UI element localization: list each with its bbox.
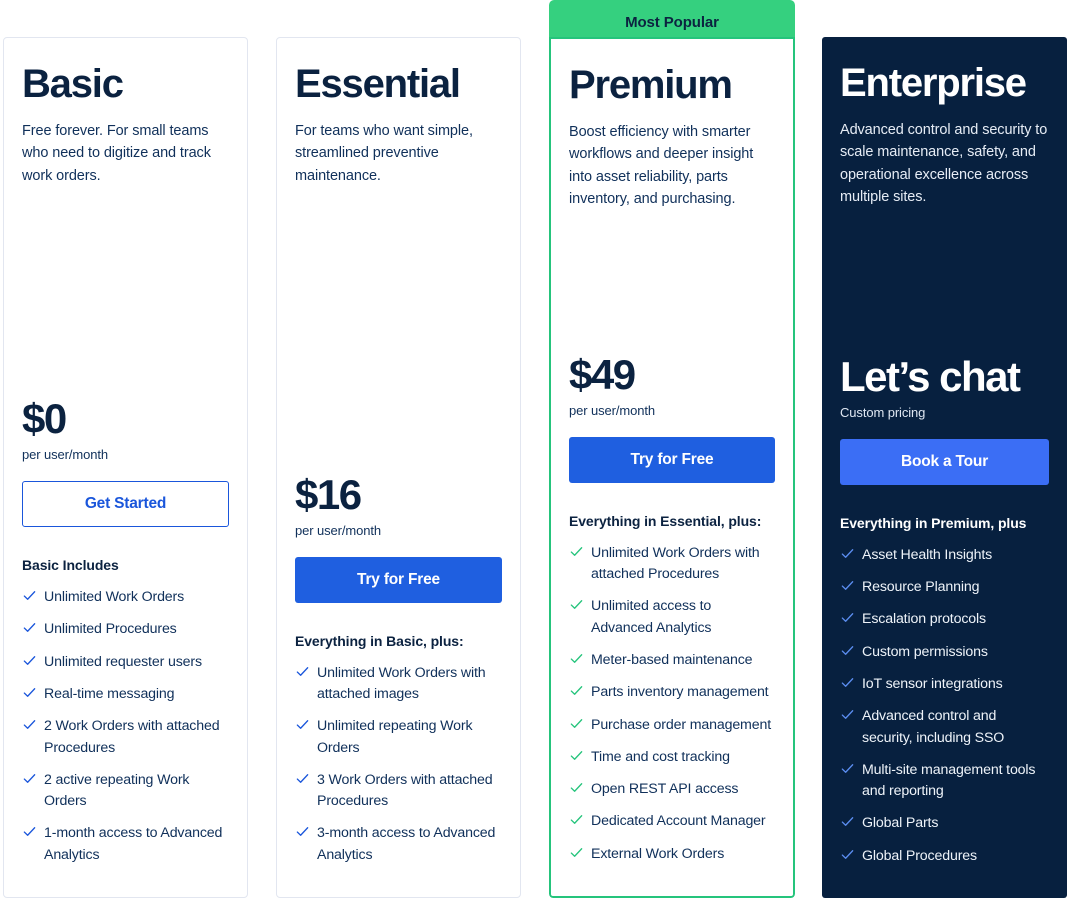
check-icon — [569, 779, 587, 795]
plan-name-enterprise: Enterprise — [840, 63, 1049, 103]
check-icon — [569, 596, 587, 612]
feature-item: Unlimited access to Advanced Analytics — [569, 596, 775, 639]
check-icon — [22, 587, 40, 603]
check-icon — [295, 663, 313, 679]
feature-item: 3-month access to Advanced Analytics — [295, 823, 502, 866]
feature-label: Global Procedures — [862, 846, 977, 867]
book-a-tour-button[interactable]: Book a Tour — [840, 439, 1049, 485]
feature-label: Unlimited Procedures — [44, 619, 177, 640]
check-icon — [840, 577, 858, 593]
check-icon — [840, 706, 858, 722]
plan-name-basic: Basic — [22, 64, 229, 104]
check-icon — [840, 846, 858, 862]
price-block-enterprise: Let’s chat Custom pricing Book a Tour — [840, 355, 1049, 485]
feature-label: 3 Work Orders with attached Procedures — [317, 770, 502, 813]
check-icon — [22, 652, 40, 668]
feature-item: Asset Health Insights — [840, 545, 1049, 566]
check-icon — [22, 770, 40, 786]
check-icon — [569, 747, 587, 763]
feature-item: Global Parts — [840, 813, 1049, 834]
features-title-essential: Everything in Basic, plus: — [295, 633, 502, 649]
feature-item: Dedicated Account Manager — [569, 811, 775, 832]
pricing-card-basic: Basic Free forever. For small teams who … — [3, 37, 248, 898]
plan-description-essential: For teams who want simple, streamlined p… — [295, 120, 502, 187]
feature-item: Unlimited requester users — [22, 652, 229, 673]
feature-label: 2 active repeating Work Orders — [44, 770, 229, 813]
check-icon — [22, 619, 40, 635]
plan-description-enterprise: Advanced control and security to scale m… — [840, 119, 1049, 209]
price-block-premium: $49 per user/month Try for Free — [569, 353, 775, 483]
plan-price-sub-basic: per user/month — [22, 447, 229, 462]
feature-item: Escalation protocols — [840, 609, 1049, 630]
feature-item: Unlimited Procedures — [22, 619, 229, 640]
feature-label: Dedicated Account Manager — [591, 811, 766, 832]
feature-label: Asset Health Insights — [862, 545, 992, 566]
features-premium: Everything in Essential, plus: Unlimited… — [569, 513, 775, 876]
features-essential: Everything in Basic, plus: Unlimited Wor… — [295, 633, 502, 877]
feature-label: Real-time messaging — [44, 684, 174, 705]
feature-label: Custom permissions — [862, 642, 988, 663]
feature-item: Time and cost tracking — [569, 747, 775, 768]
feature-label: 3-month access to Advanced Analytics — [317, 823, 502, 866]
feature-label: IoT sensor integrations — [862, 674, 1003, 695]
features-title-enterprise: Everything in Premium, plus — [840, 515, 1049, 531]
check-icon — [569, 811, 587, 827]
feature-item: Custom permissions — [840, 642, 1049, 663]
check-icon — [840, 642, 858, 658]
price-block-basic: $0 per user/month Get Started — [22, 397, 229, 527]
plan-description-basic: Free forever. For small teams who need t… — [22, 120, 229, 187]
plan-price-sub-premium: per user/month — [569, 403, 775, 418]
check-icon — [22, 716, 40, 732]
check-icon — [569, 650, 587, 666]
plan-price-enterprise: Let’s chat — [840, 355, 1049, 399]
feature-label: Unlimited Work Orders with attached imag… — [317, 663, 502, 706]
feature-label: Advanced control and security, including… — [862, 706, 1049, 749]
feature-item: Unlimited Work Orders with attached Proc… — [569, 543, 775, 586]
pricing-plans-grid: Basic Free forever. For small teams who … — [0, 0, 1070, 902]
feature-label: 2 Work Orders with attached Procedures — [44, 716, 229, 759]
feature-item: Resource Planning — [840, 577, 1049, 598]
features-title-premium: Everything in Essential, plus: — [569, 513, 775, 529]
feature-label: Meter-based maintenance — [591, 650, 752, 671]
feature-item: IoT sensor integrations — [840, 674, 1049, 695]
feature-label: Unlimited Work Orders with attached Proc… — [591, 543, 775, 586]
plan-price-sub-essential: per user/month — [295, 523, 502, 538]
check-icon — [295, 770, 313, 786]
check-icon — [840, 545, 858, 561]
feature-item: External Work Orders — [569, 844, 775, 865]
feature-item: Unlimited repeating Work Orders — [295, 716, 502, 759]
plan-price-basic: $0 — [22, 397, 229, 441]
plan-name-premium: Premium — [569, 65, 775, 105]
feature-label: External Work Orders — [591, 844, 724, 865]
pricing-card-enterprise: Enterprise Advanced control and security… — [822, 37, 1067, 898]
feature-label: Global Parts — [862, 813, 938, 834]
plan-price-essential: $16 — [295, 473, 502, 517]
feature-item: Purchase order management — [569, 715, 775, 736]
features-enterprise: Everything in Premium, plus Asset Health… — [840, 515, 1049, 878]
check-icon — [295, 716, 313, 732]
feature-item: Multi-site management tools and reportin… — [840, 760, 1049, 803]
features-basic: Basic Includes Unlimited Work Orders Unl… — [22, 557, 229, 877]
check-icon — [569, 682, 587, 698]
feature-item: Real-time messaging — [22, 684, 229, 705]
features-title-basic: Basic Includes — [22, 557, 229, 573]
feature-label: 1-month access to Advanced Analytics — [44, 823, 229, 866]
feature-label: Unlimited Work Orders — [44, 587, 184, 608]
feature-item: Advanced control and security, including… — [840, 706, 1049, 749]
price-block-essential: $16 per user/month Try for Free — [295, 473, 502, 603]
feature-label: Parts inventory management — [591, 682, 768, 703]
check-icon — [840, 760, 858, 776]
feature-label: Unlimited repeating Work Orders — [317, 716, 502, 759]
feature-item: Meter-based maintenance — [569, 650, 775, 671]
feature-label: Multi-site management tools and reportin… — [862, 760, 1049, 803]
check-icon — [569, 543, 587, 559]
check-icon — [840, 609, 858, 625]
feature-label: Unlimited requester users — [44, 652, 202, 673]
feature-item: 2 active repeating Work Orders — [22, 770, 229, 813]
pricing-card-premium: Most Popular Premium Boost efficiency wi… — [549, 0, 795, 898]
feature-label: Open REST API access — [591, 779, 738, 800]
check-icon — [569, 715, 587, 731]
feature-item: Parts inventory management — [569, 682, 775, 703]
feature-label: Time and cost tracking — [591, 747, 730, 768]
feature-item: Global Procedures — [840, 846, 1049, 867]
feature-item: Unlimited Work Orders — [22, 587, 229, 608]
check-icon — [22, 823, 40, 839]
feature-item: 1-month access to Advanced Analytics — [22, 823, 229, 866]
feature-label: Resource Planning — [862, 577, 979, 598]
check-icon — [840, 674, 858, 690]
feature-item: 3 Work Orders with attached Procedures — [295, 770, 502, 813]
check-icon — [295, 823, 313, 839]
plan-price-premium: $49 — [569, 353, 775, 397]
plan-name-essential: Essential — [295, 64, 502, 104]
feature-label: Escalation protocols — [862, 609, 986, 630]
try-for-free-button-premium[interactable]: Try for Free — [569, 437, 775, 483]
feature-item: Unlimited Work Orders with attached imag… — [295, 663, 502, 706]
plan-price-sub-enterprise: Custom pricing — [840, 405, 1049, 420]
feature-label: Purchase order management — [591, 715, 771, 736]
check-icon — [22, 684, 40, 700]
feature-label: Unlimited access to Advanced Analytics — [591, 596, 775, 639]
check-icon — [840, 813, 858, 829]
try-for-free-button-essential[interactable]: Try for Free — [295, 557, 502, 603]
pricing-card-essential: Essential For teams who want simple, str… — [276, 37, 521, 898]
check-icon — [569, 844, 587, 860]
feature-item: Open REST API access — [569, 779, 775, 800]
plan-description-premium: Boost efficiency with smarter workflows … — [569, 121, 775, 211]
feature-item: 2 Work Orders with attached Procedures — [22, 716, 229, 759]
get-started-button[interactable]: Get Started — [22, 481, 229, 527]
